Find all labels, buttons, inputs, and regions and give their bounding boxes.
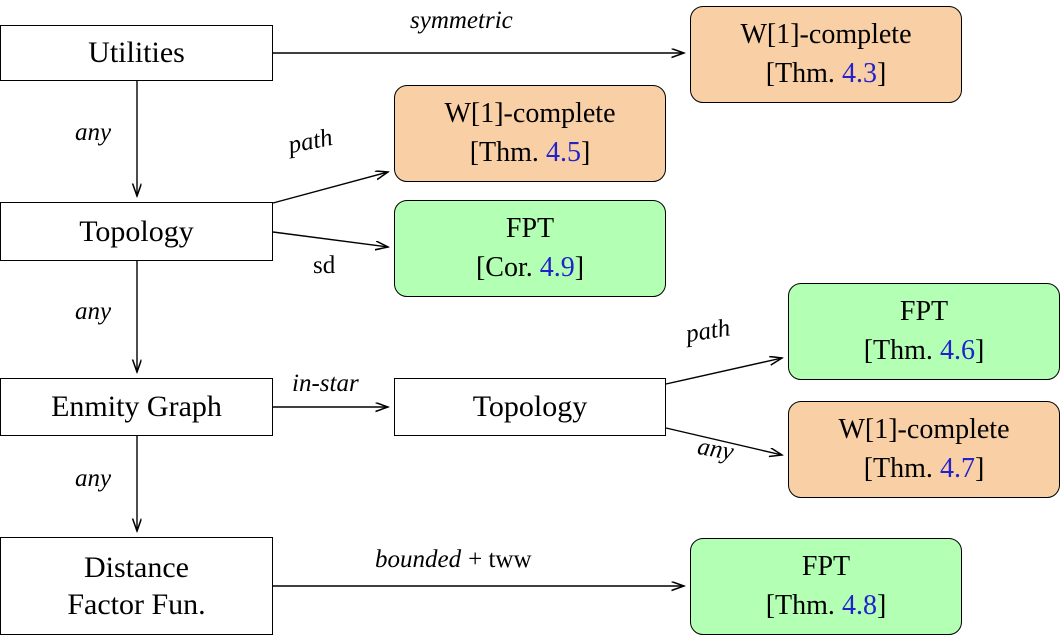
result-49-status: FPT <box>506 212 554 246</box>
result-49-ref-prefix: [Cor. <box>476 252 540 283</box>
result-47-ref-number[interactable]: 4.7 <box>940 453 975 484</box>
node-result-thm-4-8[interactable]: FPT [Thm. 4.8] <box>690 538 962 635</box>
node-distance-factor-line2: Factor Fun. <box>67 587 205 622</box>
node-distance-factor-line1: Distance <box>84 550 189 585</box>
result-43-ref-number[interactable]: 4.3 <box>842 58 877 89</box>
edge-label-symmetric: symmetric <box>410 8 513 33</box>
result-46-ref-prefix: [Thm. <box>864 335 940 366</box>
result-45-ref-number[interactable]: 4.5 <box>546 137 581 168</box>
edge-label-tww-suffix: + tww <box>468 546 531 573</box>
edge-label-any-2: any <box>75 299 111 324</box>
node-enmity-graph-label: Enmity Graph <box>51 389 222 424</box>
result-46-ref-number[interactable]: 4.6 <box>940 335 975 366</box>
node-topology-mid-label: Topology <box>473 389 588 424</box>
diagram-canvas: Utilities Topology Enmity Graph Distance… <box>0 0 1064 638</box>
result-48-ref-prefix: [Thm. <box>766 590 842 621</box>
result-49-reference: [Cor. 4.9] <box>476 251 584 285</box>
result-45-reference: [Thm. 4.5] <box>470 136 591 170</box>
result-46-ref-suffix: ] <box>975 335 984 366</box>
result-48-ref-number[interactable]: 4.8 <box>842 590 877 621</box>
result-45-ref-prefix: [Thm. <box>470 137 546 168</box>
edge-label-any-3: any <box>75 466 111 491</box>
node-enmity-graph[interactable]: Enmity Graph <box>0 378 273 436</box>
edge-label-path-top: path <box>286 125 334 158</box>
node-result-thm-4-6[interactable]: FPT [Thm. 4.6] <box>788 283 1060 380</box>
result-48-status: FPT <box>802 550 850 584</box>
result-47-ref-prefix: [Thm. <box>864 453 940 484</box>
edge-topologymid-to-46 <box>666 358 782 384</box>
result-43-reference: [Thm. 4.3] <box>766 57 887 91</box>
edge-topology-to-49 <box>273 232 388 247</box>
node-utilities-label: Utilities <box>88 35 185 70</box>
result-43-ref-suffix: ] <box>877 58 886 89</box>
node-result-thm-4-3[interactable]: W[1]-complete [Thm. 4.3] <box>690 6 962 103</box>
result-45-status: W[1]-complete <box>444 97 615 131</box>
result-46-status: FPT <box>900 295 948 329</box>
result-45-ref-suffix: ] <box>581 137 590 168</box>
result-47-ref-suffix: ] <box>975 453 984 484</box>
edge-label-in-star: in-star <box>292 371 359 396</box>
edge-topology-to-45 <box>273 172 388 203</box>
node-utilities[interactable]: Utilities <box>0 25 273 81</box>
result-49-ref-number[interactable]: 4.9 <box>540 252 575 283</box>
result-43-status: W[1]-complete <box>740 18 911 52</box>
node-result-cor-4-9[interactable]: FPT [Cor. 4.9] <box>394 200 666 297</box>
result-47-status: W[1]-complete <box>838 413 1009 447</box>
node-distance-factor-fun[interactable]: Distance Factor Fun. <box>0 537 273 635</box>
node-topology-left-label: Topology <box>79 214 194 249</box>
edge-label-any-mid: any <box>696 434 736 465</box>
edge-label-sd: sd <box>313 253 335 278</box>
result-48-reference: [Thm. 4.8] <box>766 589 887 623</box>
result-46-reference: [Thm. 4.6] <box>864 334 985 368</box>
result-49-ref-suffix: ] <box>575 252 584 283</box>
node-topology-mid[interactable]: Topology <box>394 378 666 436</box>
edge-label-bounded-word: bounded <box>375 546 461 573</box>
edge-label-any-1: any <box>75 120 111 145</box>
node-result-thm-4-5[interactable]: W[1]-complete [Thm. 4.5] <box>394 85 666 182</box>
result-47-reference: [Thm. 4.7] <box>864 452 985 486</box>
edge-label-bounded-tww: bounded+ tww <box>375 547 532 572</box>
node-topology-left[interactable]: Topology <box>0 202 273 261</box>
edge-label-path-mid: path <box>684 315 732 347</box>
result-48-ref-suffix: ] <box>877 590 886 621</box>
node-result-thm-4-7[interactable]: W[1]-complete [Thm. 4.7] <box>788 401 1060 498</box>
result-43-ref-prefix: [Thm. <box>766 58 842 89</box>
